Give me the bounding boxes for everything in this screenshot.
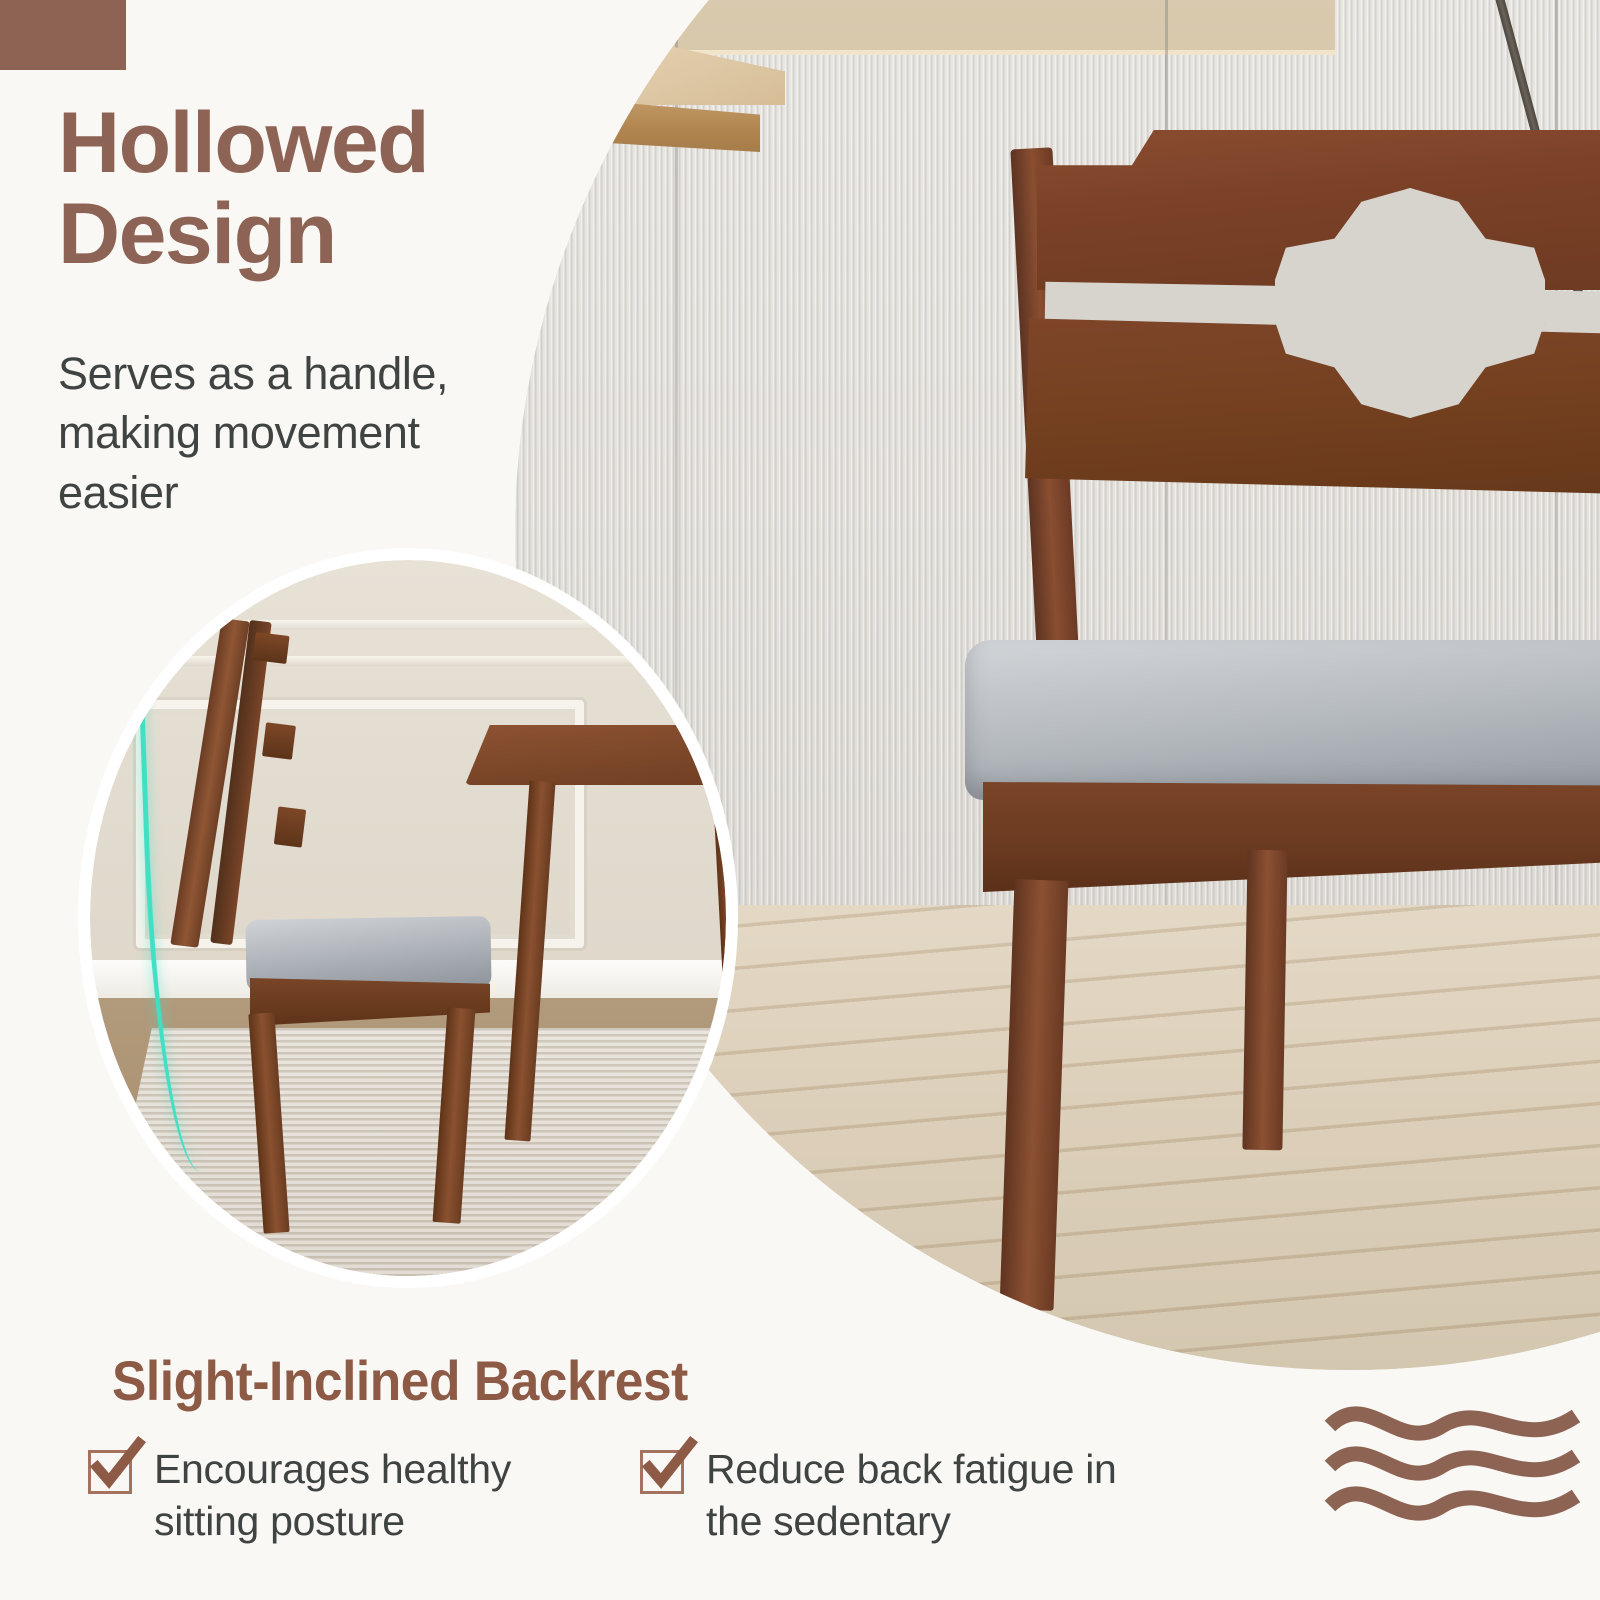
feature-item: Encourages healthy sitting posture [88, 1444, 588, 1547]
feature-line-1: Reduce back fatigue in [706, 1446, 1117, 1492]
headline-line-2: Design [58, 189, 598, 280]
inset-chair-slat-nub [252, 632, 289, 664]
chair-seat-apron [983, 782, 1600, 892]
feature-label: Reduce back fatigue in the sedentary [706, 1444, 1117, 1547]
inset-table-leg-front [504, 781, 555, 1142]
dining-chair [945, 110, 1600, 1290]
headline-line-1: Hollowed [58, 98, 598, 189]
inset-chair-slat-nub [262, 722, 296, 759]
inset-chair-leg-front [248, 1012, 289, 1233]
check-square-icon [640, 1450, 684, 1494]
inset-chair-leg-rear [433, 1007, 476, 1223]
feature-item: Reduce back fatigue in the sedentary [640, 1444, 1200, 1547]
check-mark-icon [89, 1437, 143, 1491]
inset-table-leg-rear [712, 777, 726, 1078]
inset-table [465, 725, 726, 1125]
subcopy-line-2: making movement [58, 403, 588, 462]
subcopy-line-3: easier [58, 463, 588, 522]
corner-accent-block [0, 0, 126, 70]
page-subtitle: Serves as a handle, making movement easi… [58, 344, 588, 522]
infographic-page: Hollowed Design Serves as a handle, maki… [0, 0, 1600, 1600]
check-mark-icon [641, 1437, 695, 1491]
feature-line-1: Encourages healthy [154, 1446, 511, 1492]
inset-side-view-photo [78, 548, 738, 1288]
subcopy-line-1: Serves as a handle, [58, 344, 588, 403]
wave-lines-logo [1324, 1392, 1582, 1542]
feature-label: Encourages healthy sitting posture [154, 1444, 511, 1547]
feature-line-2: the sedentary [706, 1498, 951, 1544]
feature-line-2: sitting posture [154, 1498, 405, 1544]
page-title: Hollowed Design [58, 98, 598, 280]
check-square-icon [88, 1450, 132, 1494]
chair-seat-cushion [965, 640, 1600, 800]
chair-leg-rear-left [1242, 850, 1287, 1151]
inset-scene [90, 560, 726, 1276]
inset-chair-slat-nub [274, 806, 306, 847]
chair-leg-front-left [1000, 879, 1069, 1311]
bottom-section-title: Slight-Inclined Backrest [112, 1348, 688, 1413]
inset-table-top [465, 725, 726, 785]
